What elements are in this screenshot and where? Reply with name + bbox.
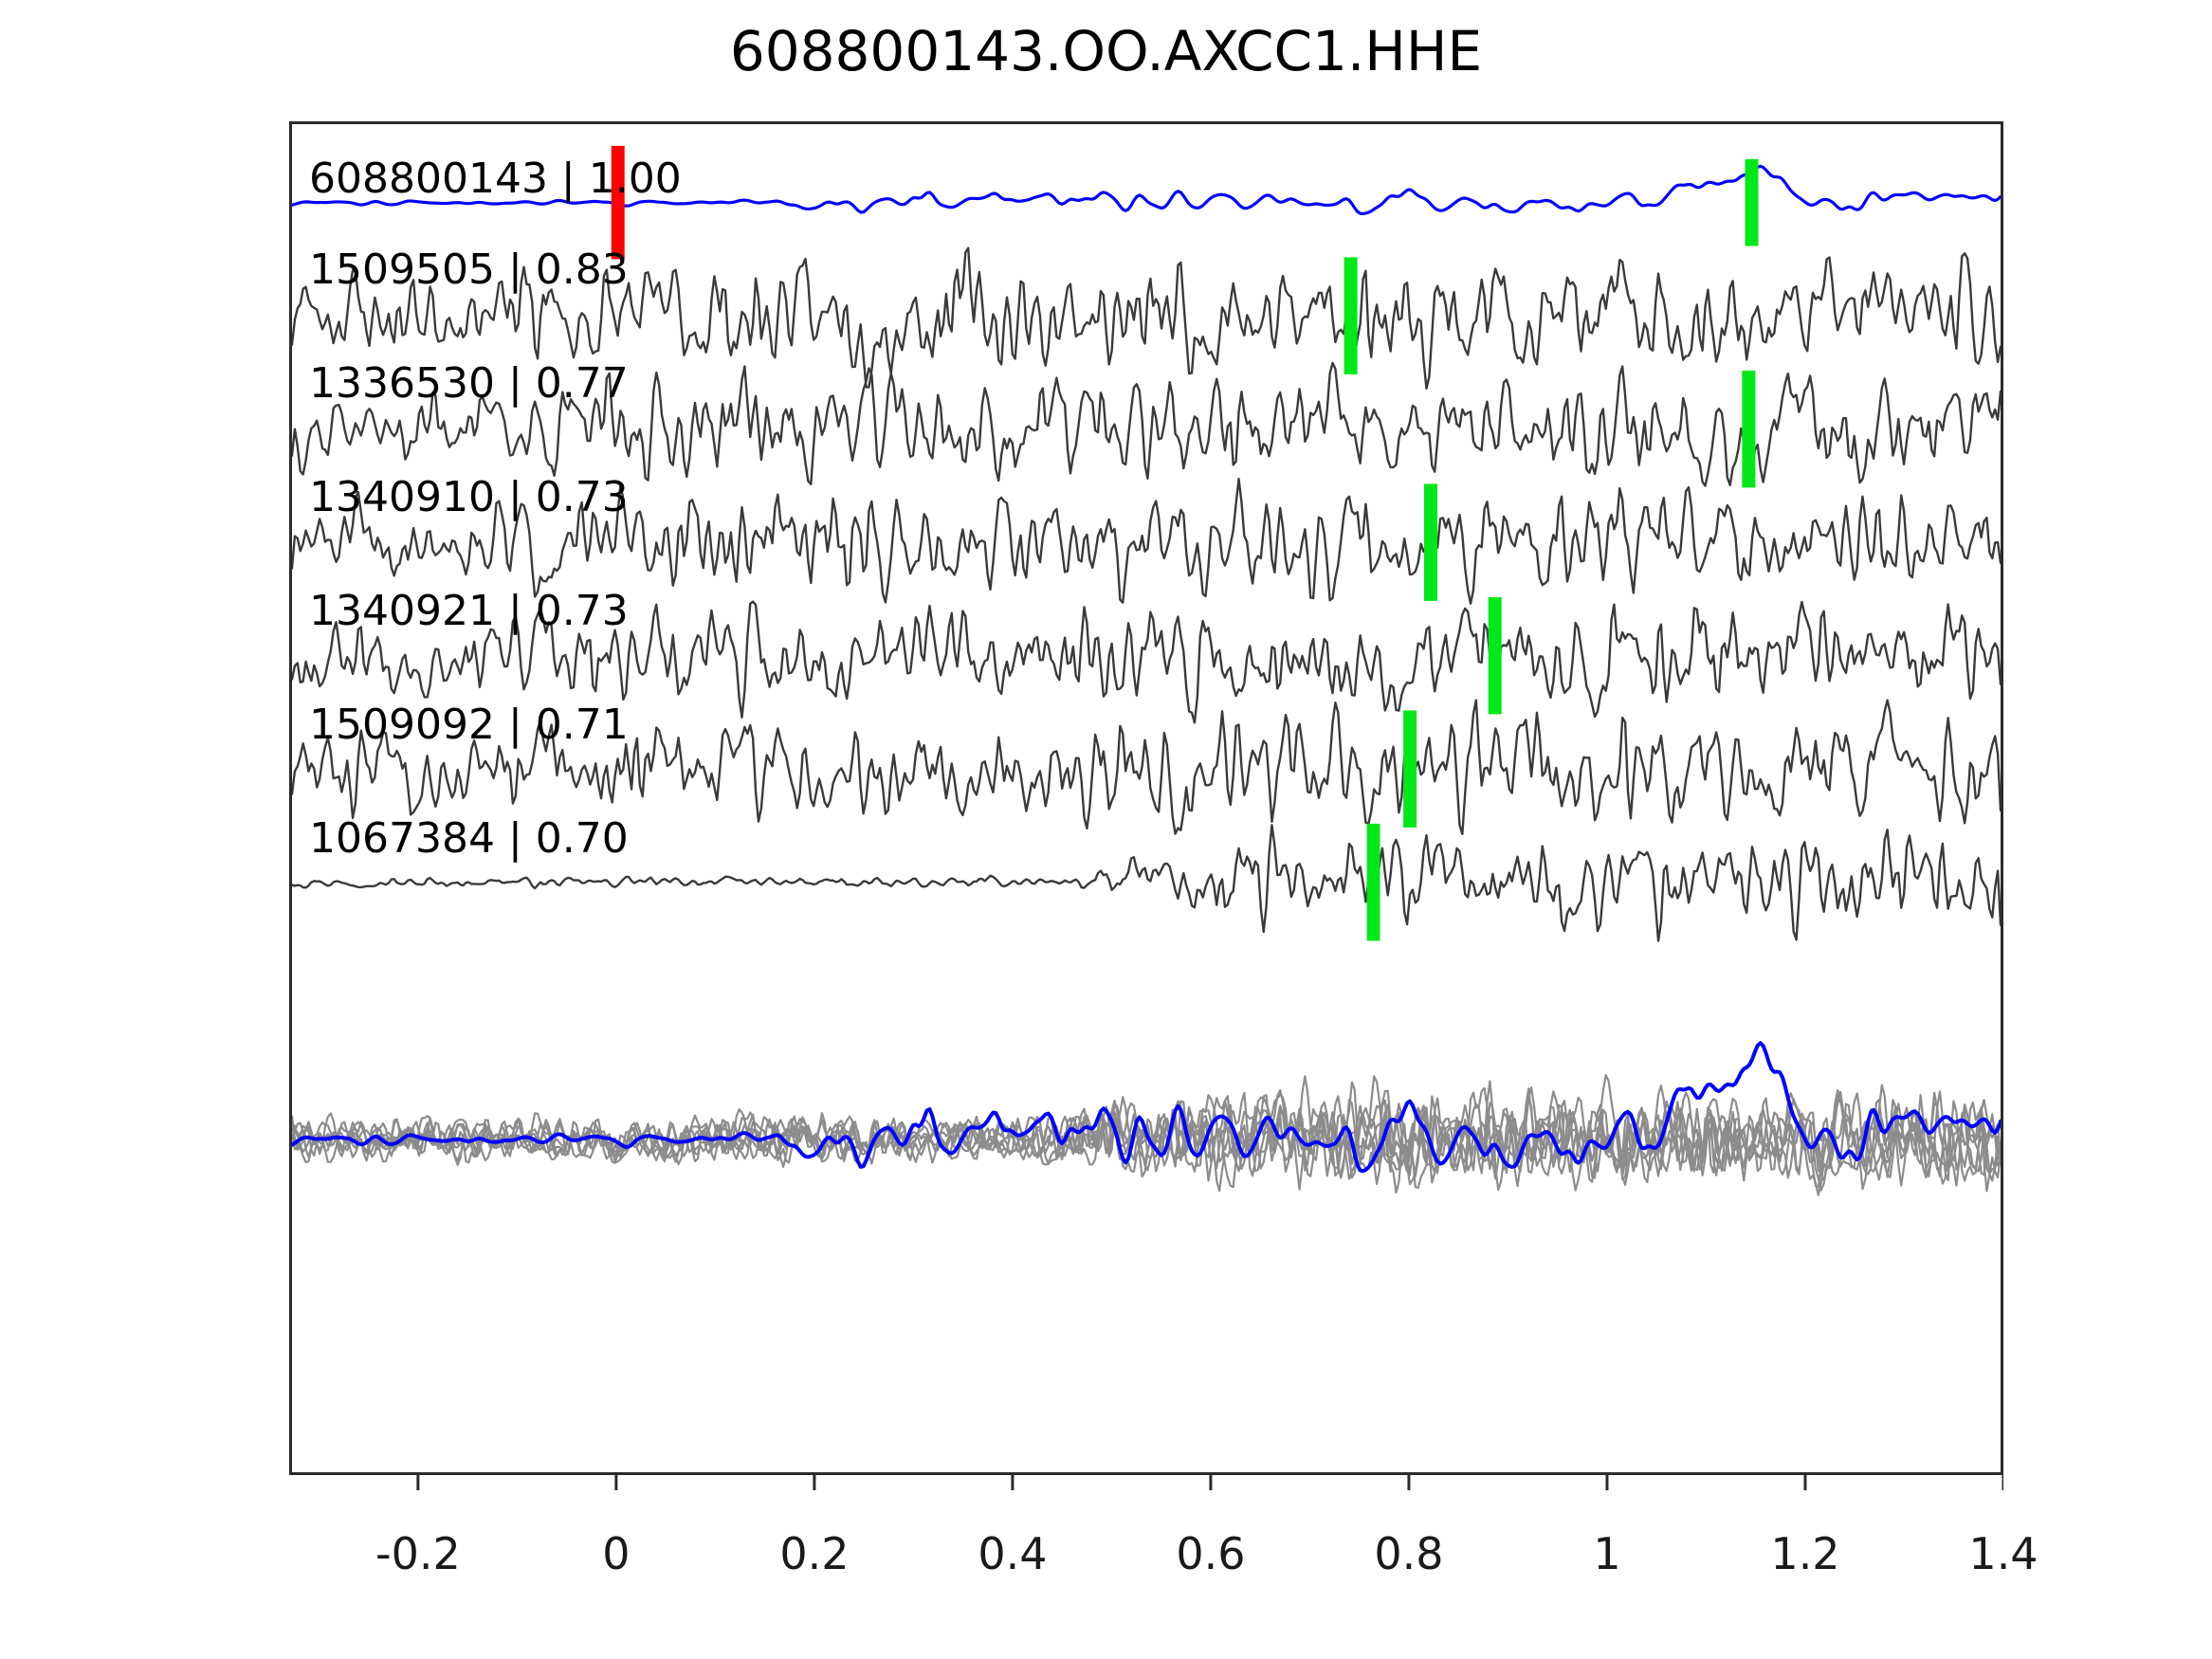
figure-root: 608800143.OO.AXCC1.HHE 608800143 | 1.00 … (0, 0, 2212, 1659)
x-tick-label: 0.6 (1176, 1528, 1245, 1579)
pick-marker (1403, 710, 1417, 827)
pick-marker (1344, 257, 1358, 374)
x-tick-label: -0.2 (375, 1528, 461, 1579)
row-label-1340910: 1340910 | 0.73 (309, 473, 629, 521)
waveform-canvas (292, 124, 2001, 1472)
x-axis-ticks (289, 1475, 2003, 1522)
pick-marker (1742, 371, 1755, 487)
page-title: 608800143.OO.AXCC1.HHE (0, 19, 2212, 83)
x-tick-label: 0.8 (1374, 1528, 1443, 1579)
x-tick-label: 0.2 (779, 1528, 849, 1579)
x-tick-label: 1.2 (1770, 1528, 1839, 1579)
pick-marker (1746, 159, 1759, 246)
x-tick-label: 0.4 (978, 1528, 1047, 1579)
pick-marker (1367, 824, 1380, 940)
plot-area: 608800143 | 1.00 1509505 | 0.83 1336530 … (289, 121, 2003, 1475)
row-label-1340921: 1340921 | 0.73 (309, 587, 629, 635)
row-label-1509092: 1509092 | 0.71 (309, 701, 629, 749)
pick-marker (1424, 483, 1437, 600)
x-tick-label: 1.4 (1968, 1528, 2038, 1579)
row-label-1509505: 1509505 | 0.83 (309, 246, 629, 294)
x-tick-label: 0 (602, 1528, 630, 1579)
pick-marker (1489, 597, 1502, 714)
row-label-1336530: 1336530 | 0.77 (309, 359, 629, 408)
x-axis: -0.2 0 0.2 0.4 0.6 0.8 1 1.2 1.4 (289, 1475, 2003, 1589)
row-label-608800143: 608800143 | 1.00 (309, 155, 682, 203)
x-tick-label: 1 (1593, 1528, 1620, 1579)
row-label-1067384: 1067384 | 0.70 (309, 814, 629, 863)
